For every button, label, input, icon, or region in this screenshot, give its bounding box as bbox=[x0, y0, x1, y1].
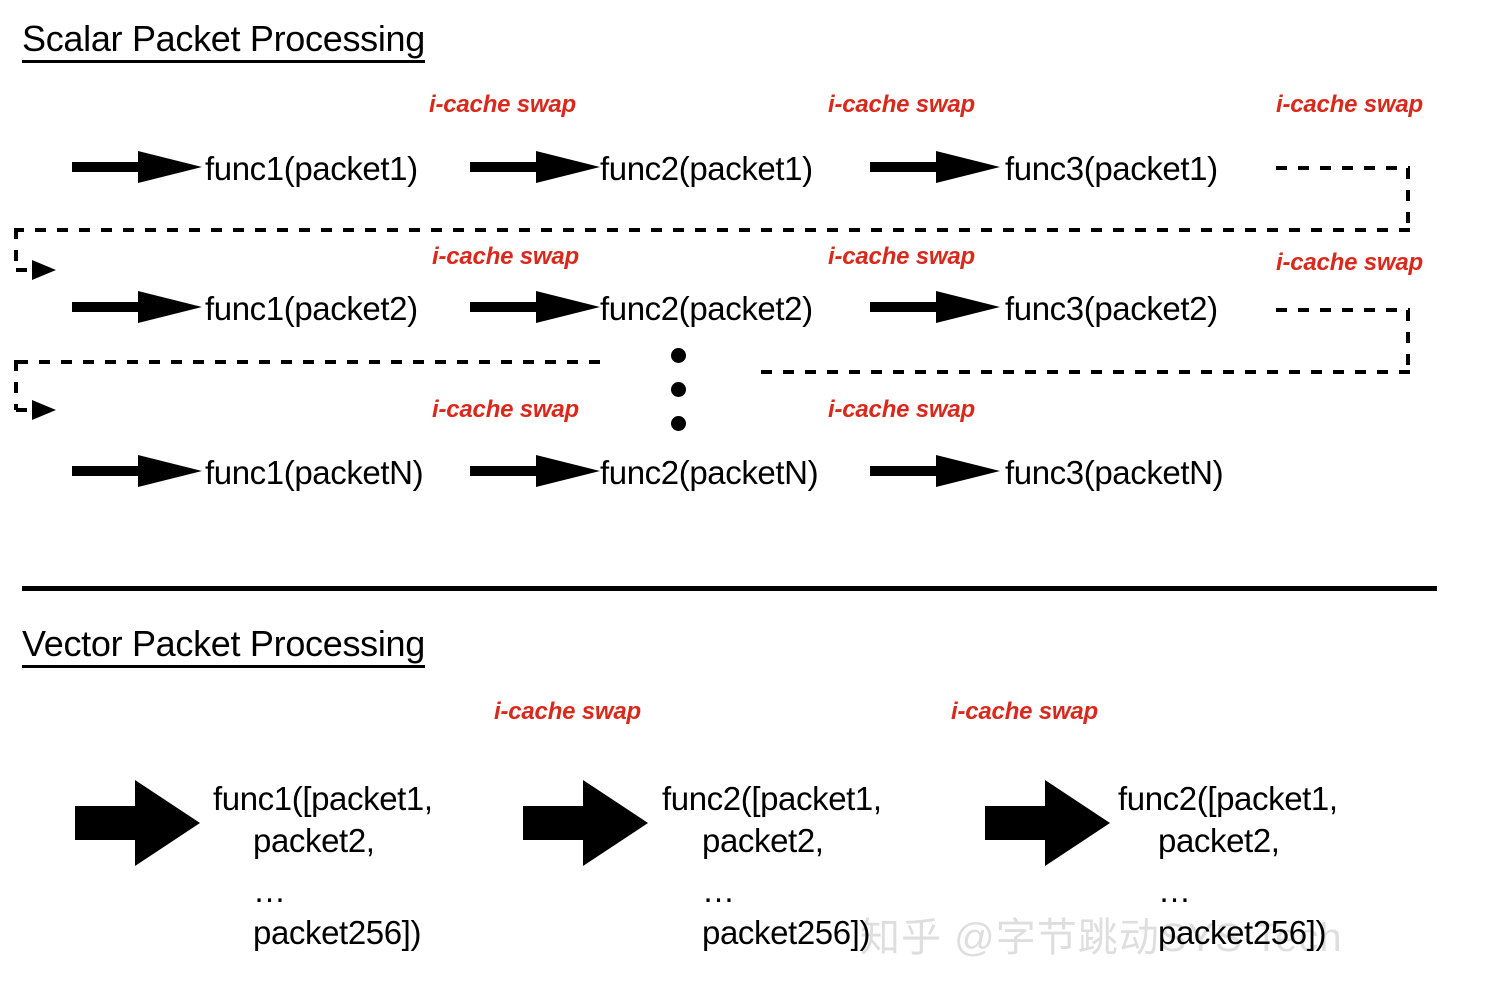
vector-block-1-line1: func1([packet1, bbox=[213, 778, 433, 820]
swap-label-v2: i-cache swap bbox=[951, 700, 1098, 724]
vector-block-3-line4: packet256]) bbox=[1118, 912, 1338, 954]
swap-label-r2c1: i-cache swap bbox=[432, 245, 579, 269]
swap-label-r3c2: i-cache swap bbox=[828, 398, 975, 422]
vector-block-3-line3: … bbox=[1118, 862, 1338, 912]
vector-section-title: Vector Packet Processing bbox=[22, 625, 425, 668]
vector-block-3-line1: func2([packet1, bbox=[1118, 778, 1338, 820]
swap-label-v1: i-cache swap bbox=[494, 700, 641, 724]
ellipsis-dot bbox=[671, 348, 686, 363]
swap-label-r2c2: i-cache swap bbox=[828, 245, 975, 269]
section-divider bbox=[22, 586, 1437, 591]
vector-block-3: func2([packet1, packet2, … packet256]) bbox=[1118, 778, 1338, 954]
vector-block-1: func1([packet1, packet2, … packet256]) bbox=[213, 778, 433, 954]
vector-block-2-line1: func2([packet1, bbox=[662, 778, 882, 820]
diagram-canvas: Scalar Packet Processing i-cache swap i-… bbox=[0, 0, 1494, 994]
vector-block-1-line4: packet256]) bbox=[213, 912, 433, 954]
vector-block-2-line2: packet2, bbox=[662, 820, 882, 862]
func-label-r3c2: func2(packetN) bbox=[600, 456, 818, 489]
arrow-right-icon-r3a3 bbox=[870, 452, 1000, 490]
ellipsis-dot bbox=[671, 416, 686, 431]
vector-block-1-line2: packet2, bbox=[213, 820, 433, 862]
swap-label-r3c1: i-cache swap bbox=[432, 398, 579, 422]
dashed-feedback-loop-icon-1 bbox=[8, 160, 1418, 280]
fat-arrow-right-icon-v1 bbox=[75, 780, 200, 866]
fat-arrow-right-icon-v3 bbox=[985, 780, 1110, 866]
func-label-r3c3: func3(packetN) bbox=[1005, 456, 1223, 489]
vector-block-3-line2: packet2, bbox=[1118, 820, 1338, 862]
swap-label-r1c1: i-cache swap bbox=[429, 93, 576, 117]
vertical-ellipsis-icon bbox=[671, 348, 687, 431]
vector-block-2-line3: … bbox=[662, 862, 882, 912]
swap-label-r1c2: i-cache swap bbox=[828, 93, 975, 117]
ellipsis-dot bbox=[671, 382, 686, 397]
scalar-section-title: Scalar Packet Processing bbox=[22, 20, 425, 63]
func-label-r3c1: func1(packetN) bbox=[205, 456, 423, 489]
swap-label-r2c3: i-cache swap bbox=[1276, 251, 1423, 275]
fat-arrow-right-icon-v2 bbox=[523, 780, 648, 866]
arrow-right-icon-r3a1 bbox=[72, 452, 202, 490]
arrow-right-icon-r3a2 bbox=[470, 452, 600, 490]
swap-label-r1c3: i-cache swap bbox=[1276, 93, 1423, 117]
vector-block-2: func2([packet1, packet2, … packet256]) bbox=[662, 778, 882, 954]
vector-block-2-line4: packet256]) bbox=[662, 912, 882, 954]
vector-block-1-line3: … bbox=[213, 862, 433, 912]
dashed-feedback-loop-icon-2 bbox=[8, 300, 1418, 430]
